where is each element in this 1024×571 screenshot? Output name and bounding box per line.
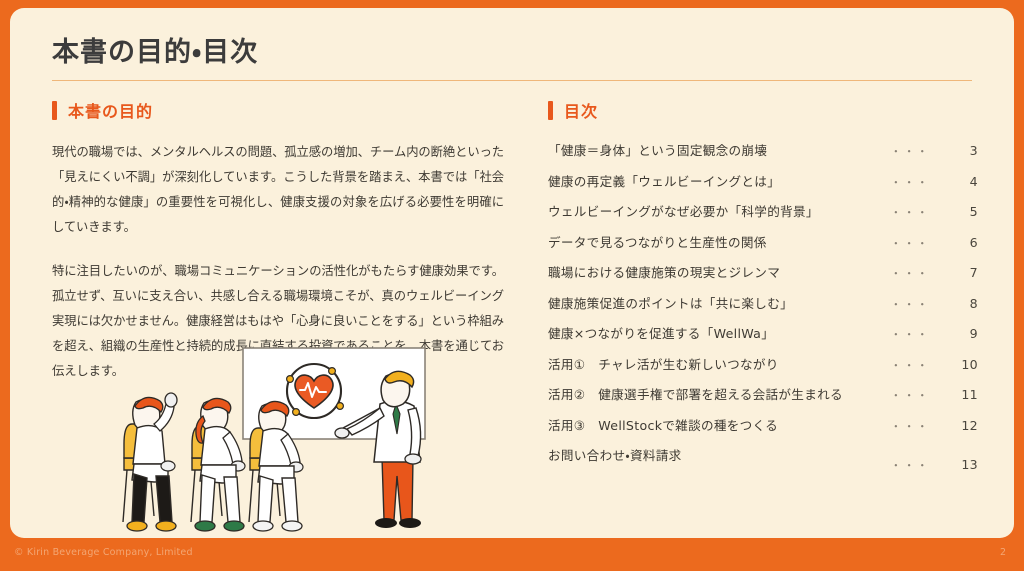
purpose-paragraph-1: 現代の職場では、メンタルヘルスの問題、孤立感の増加、チーム内の断絶といった「見え… <box>52 140 504 240</box>
section-header-purpose: 本書の目的 <box>52 98 504 122</box>
toc-leader-dots: ・・・ <box>890 457 956 473</box>
toc-leader-dots: ・・・ <box>890 326 956 342</box>
section-title-purpose: 本書の目的 <box>68 98 153 122</box>
toc-item-label: 活用② 健康選手権で部署を超える会話が生まれる <box>548 384 843 403</box>
seated-person-2 <box>191 398 245 531</box>
toc-leader-dots: ・・・ <box>890 418 956 434</box>
toc-row[interactable]: 「健康＝身体」という固定観念の崩壊・・・3 <box>548 140 978 171</box>
toc-page-number: 11 <box>956 387 978 402</box>
toc-page-number: 13 <box>956 457 978 472</box>
toc-row[interactable]: 健康施策促進のポイントは「共に楽しむ」・・・8 <box>548 293 978 324</box>
toc-page-number: 4 <box>956 174 978 189</box>
right-column: 目次 「健康＝身体」という固定観念の崩壊・・・3健康の再定義「ウェルビーイングと… <box>548 98 978 476</box>
copyright-text: © Kirin Beverage Company, Limited <box>14 547 193 558</box>
toc-leader-dots: ・・・ <box>890 235 956 251</box>
toc-item-label: 健康の再定義「ウェルビーイングとは」 <box>548 171 780 190</box>
toc-row[interactable]: お問い合わせ・資料請求・・・13 <box>548 445 978 476</box>
toc-leader-dots: ・・・ <box>890 387 956 403</box>
toc-item-label: 「健康＝身体」という固定観念の崩壊 <box>548 140 767 159</box>
toc-item-label: 活用③ WellStockで雑談の種をつくる <box>548 415 778 434</box>
toc-row[interactable]: データで見るつながりと生産性の関係・・・6 <box>548 232 978 263</box>
toc-item-label: 健康×つながりを促進する「WellWa」 <box>548 323 774 342</box>
toc-page-number: 8 <box>956 296 978 311</box>
toc-row[interactable]: 活用② 健康選手権で部署を超える会話が生まれる・・・11 <box>548 384 978 415</box>
toc-item-label: 活用① チャレ活が生む新しいつながり <box>548 354 779 373</box>
table-of-contents: 「健康＝身体」という固定観念の崩壊・・・3健康の再定義「ウェルビーイングとは」・… <box>548 140 978 476</box>
toc-row[interactable]: 健康の再定義「ウェルビーイングとは」・・・4 <box>548 171 978 202</box>
toc-item-label: お問い合わせ・資料請求 <box>548 445 682 464</box>
toc-row[interactable]: ウェルビーイングがなぜ必要か「科学的背景」・・・5 <box>548 201 978 232</box>
toc-row[interactable]: 活用① チャレ活が生む新しいつながり・・・10 <box>548 354 978 385</box>
toc-leader-dots: ・・・ <box>890 265 956 281</box>
toc-page-number: 5 <box>956 204 978 219</box>
toc-item-label: 職場における健康施策の現実とジレンマ <box>548 262 780 281</box>
toc-page-number: 10 <box>956 357 978 372</box>
seated-person-1 <box>123 393 177 531</box>
toc-item-label: データで見るつながりと生産性の関係 <box>548 232 767 251</box>
toc-page-number: 9 <box>956 326 978 341</box>
content-card: 本書の目的・目次 本書の目的 現代の職場では、メンタルヘルスの問題、孤立感の増加… <box>10 8 1014 538</box>
toc-page-number: 6 <box>956 235 978 250</box>
toc-leader-dots: ・・・ <box>890 296 956 312</box>
toc-leader-dots: ・・・ <box>890 204 956 220</box>
toc-item-label: ウェルビーイングがなぜ必要か「科学的背景」 <box>548 201 819 220</box>
accent-bar-icon <box>548 101 553 120</box>
illustration-presentation-scene <box>110 346 445 538</box>
toc-page-number: 7 <box>956 265 978 280</box>
toc-leader-dots: ・・・ <box>890 357 956 373</box>
section-header-toc: 目次 <box>548 98 978 122</box>
toc-row[interactable]: 健康×つながりを促進する「WellWa」・・・9 <box>548 323 978 354</box>
toc-leader-dots: ・・・ <box>890 174 956 190</box>
toc-item-label: 健康施策促進のポイントは「共に楽しむ」 <box>548 293 793 312</box>
toc-leader-dots: ・・・ <box>890 143 956 159</box>
footer-bar: © Kirin Beverage Company, Limited 2 <box>0 538 1024 571</box>
slide: 本書の目的・目次 本書の目的 現代の職場では、メンタルヘルスの問題、孤立感の増加… <box>0 0 1024 571</box>
section-title-toc: 目次 <box>564 98 598 122</box>
left-column: 本書の目的 現代の職場では、メンタルヘルスの問題、孤立感の増加、チーム内の断絶と… <box>52 98 504 384</box>
accent-bar-icon <box>52 101 57 120</box>
toc-page-number: 12 <box>956 418 978 433</box>
page-title: 本書の目的・目次 <box>52 30 258 69</box>
toc-page-number: 3 <box>956 143 978 158</box>
toc-row[interactable]: 職場における健康施策の現実とジレンマ・・・7 <box>548 262 978 293</box>
toc-row[interactable]: 活用③ WellStockで雑談の種をつくる・・・12 <box>548 415 978 446</box>
page-number: 2 <box>1000 547 1006 558</box>
title-divider <box>52 80 972 81</box>
